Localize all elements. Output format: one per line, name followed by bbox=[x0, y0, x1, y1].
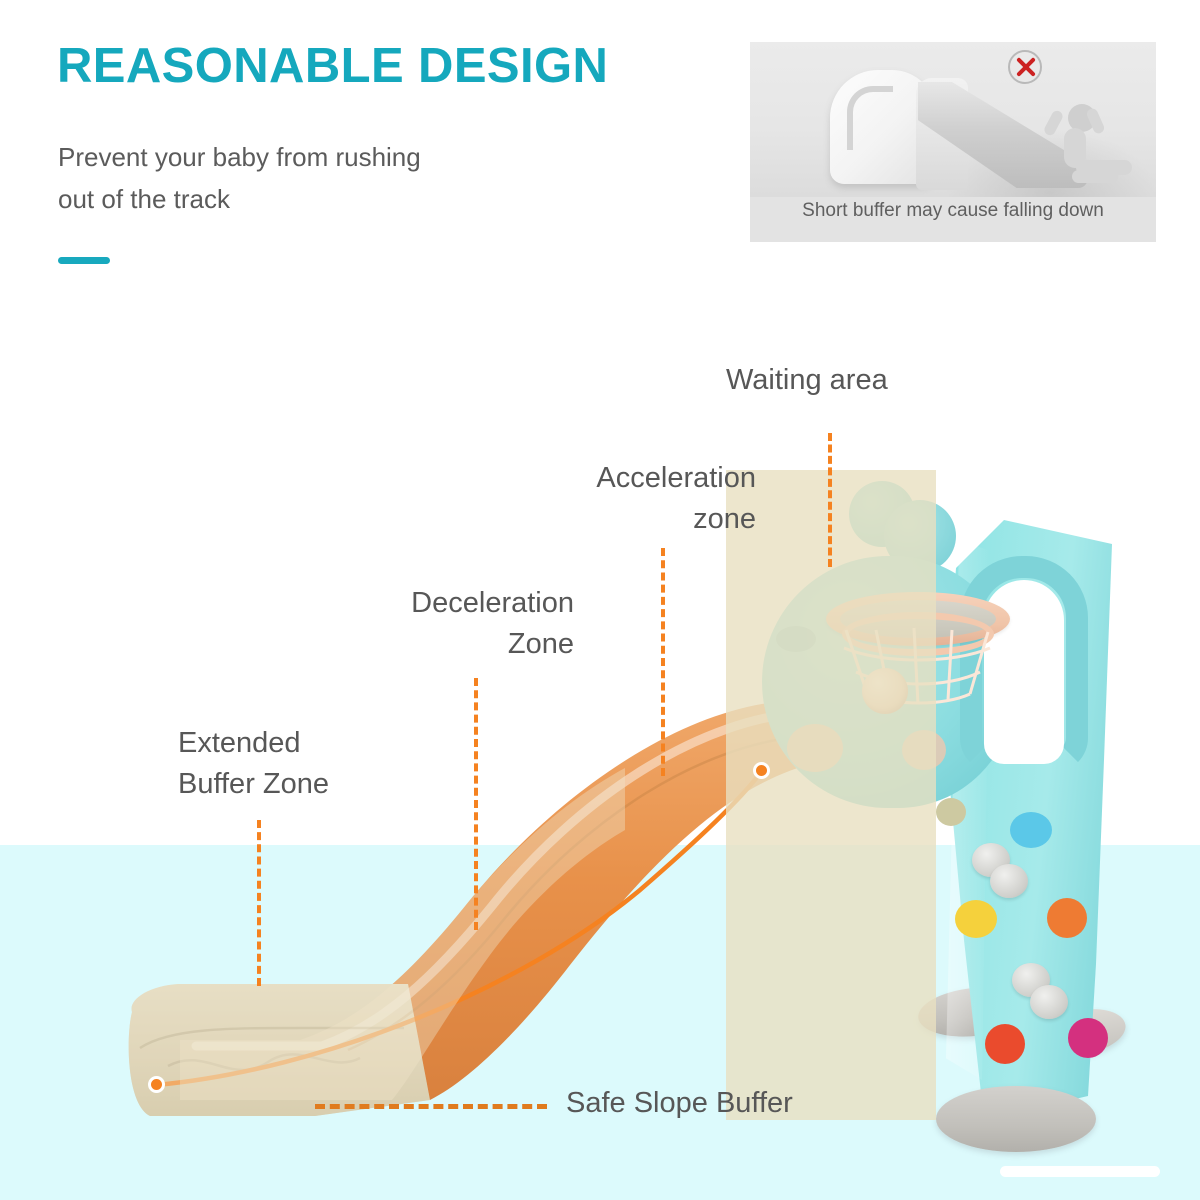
bear-cheek bbox=[902, 730, 946, 770]
polka-dot-pink bbox=[1068, 1018, 1108, 1058]
callout-extended-buffer: Extended Buffer Zone bbox=[178, 723, 418, 804]
polka-dot-red bbox=[985, 1024, 1025, 1064]
infographic-stage: REASONABLE DESIGN Prevent your baby from… bbox=[0, 0, 1200, 1200]
product-foot-front bbox=[936, 1086, 1096, 1152]
slide-buffer-platform bbox=[129, 984, 430, 1116]
buffer-edge-line bbox=[140, 1028, 404, 1048]
leader-line-waiting bbox=[828, 433, 832, 567]
leader-line-acceleration bbox=[661, 548, 665, 776]
toy-basketball bbox=[862, 668, 908, 714]
callout-waiting-area: Waiting area bbox=[726, 360, 888, 401]
step-cap-4 bbox=[1030, 985, 1068, 1019]
polka-dot-olive bbox=[936, 798, 966, 826]
bear-eye bbox=[776, 626, 816, 652]
polka-dot-orange bbox=[1047, 898, 1087, 938]
product-illustration bbox=[0, 0, 1200, 1200]
polka-dot-yellow bbox=[955, 900, 997, 938]
zone-midramp-overlay bbox=[180, 768, 625, 1100]
leader-line-safe-slope bbox=[315, 1104, 547, 1109]
leader-line-extended-buffer bbox=[257, 820, 261, 986]
basketball-net bbox=[838, 624, 998, 716]
guide-endpoint-top bbox=[753, 762, 770, 779]
callout-safe-slope: Safe Slope Buffer bbox=[566, 1083, 793, 1124]
slide-centre-guide bbox=[156, 771, 762, 1085]
callout-acceleration: Acceleration zone bbox=[551, 458, 756, 539]
zone-deceleration-overlay bbox=[129, 984, 430, 1116]
scrollbar-thumb[interactable] bbox=[1000, 1166, 1160, 1177]
bear-muzzle bbox=[787, 724, 843, 772]
polka-dot-blue bbox=[1010, 812, 1052, 848]
callout-deceleration: Deceleration Zone bbox=[363, 583, 574, 664]
leader-line-deceleration bbox=[474, 678, 478, 930]
guide-endpoint-bottom bbox=[148, 1076, 165, 1093]
step-cap-2 bbox=[990, 864, 1028, 898]
buffer-moulding bbox=[168, 1054, 360, 1070]
